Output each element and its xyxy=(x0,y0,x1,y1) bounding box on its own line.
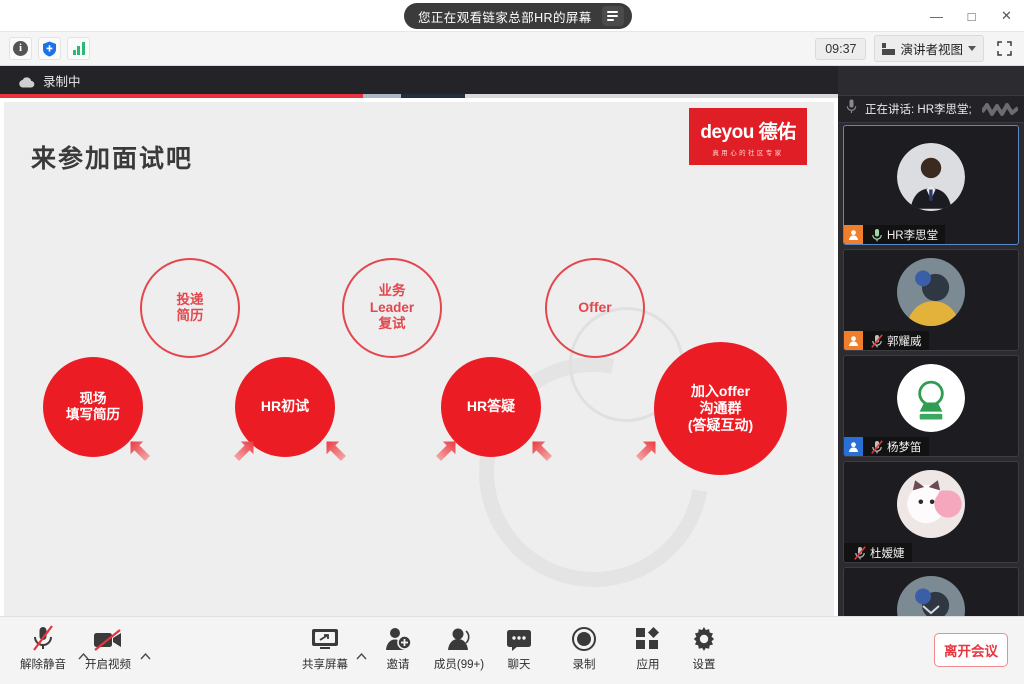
flow-node-label: 加入offer沟通群(答疑互动) xyxy=(688,383,753,434)
record-icon xyxy=(572,627,596,651)
toolbar-button-label: 聊天 xyxy=(508,656,531,672)
flow-node: 业务Leader复试 xyxy=(342,258,442,358)
toolbar-button-label: 设置 xyxy=(693,656,716,672)
gear-icon xyxy=(692,627,716,651)
participant-tile[interactable]: HR李思堂 xyxy=(843,125,1019,245)
maximize-button[interactable]: □ xyxy=(954,0,989,32)
participant-name: 杨梦笛 xyxy=(887,439,922,455)
participant-nametag: 郭耀威 xyxy=(844,331,929,350)
screen-share-notice-label: 您正在观看链家总部HR的屏幕 xyxy=(418,7,592,26)
flow-node-label: HR初试 xyxy=(261,398,309,415)
view-mode-selector[interactable]: 演讲者视图 xyxy=(874,35,984,62)
meeting-window: 您正在观看链家总部HR的屏幕 — □ ✕ i 09:37 演讲者视图 xyxy=(0,0,1024,684)
signal-bars-icon[interactable] xyxy=(67,37,90,60)
shield-icon[interactable] xyxy=(38,37,61,60)
toolbar-button-unmute[interactable]: 解除静音 xyxy=(8,627,78,672)
toolbar-button-chat[interactable]: 聊天 xyxy=(484,627,554,672)
active-speaker-banner: 正在讲话: HR李思堂; xyxy=(838,95,1024,123)
camera-off-icon xyxy=(93,627,123,651)
slide-title: 来参加面试吧 xyxy=(31,139,193,175)
close-button[interactable]: ✕ xyxy=(989,0,1024,32)
toolbar-button-invite[interactable]: 邀请 xyxy=(363,627,433,672)
recording-strip: 录制中 xyxy=(0,66,838,94)
window-controls: — □ ✕ xyxy=(919,0,1024,32)
deyou-logo: deyou 德佑 真用心的社区专家 xyxy=(689,108,807,165)
meeting-toolbar: 解除静音开启视频共享屏幕邀请成员(99+)聊天录制应用设置 离开会议 xyxy=(0,616,1024,684)
microphone-muted-icon xyxy=(31,627,55,651)
toolbar-button-record[interactable]: 录制 xyxy=(549,627,619,672)
participants-icon xyxy=(446,627,472,651)
participant-nametag: HR李思堂 xyxy=(844,225,945,244)
participant-tile[interactable] xyxy=(843,567,1019,616)
apps-grid-icon xyxy=(636,627,660,651)
toolbar-button-label: 共享屏幕 xyxy=(302,656,348,672)
invite-user-icon xyxy=(385,627,411,651)
host-badge-icon xyxy=(844,331,863,350)
flow-node-label: 业务Leader复试 xyxy=(370,283,414,332)
toolbar-button-label: 开启视频 xyxy=(85,656,131,672)
recording-label: 录制中 xyxy=(43,71,81,90)
secondary-toolbar: i 09:37 演讲者视图 xyxy=(0,32,1024,66)
participant-nametag: 杨梦笛 xyxy=(844,437,929,456)
participant-tile[interactable]: 杨梦笛 xyxy=(843,355,1019,457)
participants-sidebar: 正在讲话: HR李思堂; HR李思堂郭耀威杨梦笛杜嫒婕 xyxy=(838,66,1024,616)
toolbar-button-label: 邀请 xyxy=(387,656,410,672)
flow-node: 投递简历 xyxy=(140,258,240,358)
view-mode-label: 演讲者视图 xyxy=(900,39,963,58)
participant-tile[interactable]: 郭耀威 xyxy=(843,249,1019,351)
participant-name: HR李思堂 xyxy=(887,227,938,243)
microphone-muted-icon xyxy=(871,334,883,348)
participant-tile[interactable]: 杜嫒婕 xyxy=(843,461,1019,563)
shared-screen-stage: 来参加面试吧 deyou 德佑 真用心的社区专家 现场填写简历投递简历HR初试业… xyxy=(0,98,838,616)
flow-node-label: 投递简历 xyxy=(177,292,204,325)
person-photo-avatar xyxy=(897,258,965,326)
layout-icon xyxy=(882,43,895,55)
flow-node-label: HR答疑 xyxy=(467,398,515,415)
host-badge-icon xyxy=(844,225,863,244)
toolbar-button-settings[interactable]: 设置 xyxy=(669,627,739,672)
participant-nametag: 杜嫒婕 xyxy=(844,543,912,562)
active-speaker-label: 正在讲话: HR李思堂; xyxy=(865,101,972,117)
participant-name: 杜嫒婕 xyxy=(870,545,905,561)
toolbar-button-video[interactable]: 开启视频 xyxy=(73,627,143,672)
hamburger-icon[interactable] xyxy=(602,6,624,26)
minimize-button[interactable]: — xyxy=(919,0,954,32)
logo-avatar xyxy=(897,364,965,432)
microphone-muted-icon xyxy=(854,546,866,560)
toolbar-left-icons: i xyxy=(9,37,90,60)
flow-node-label: 现场填写简历 xyxy=(66,391,120,424)
toolbar-button-share[interactable]: 共享屏幕 xyxy=(290,627,360,672)
leave-meeting-button[interactable]: 离开会议 xyxy=(934,633,1008,667)
chevron-down-icon[interactable] xyxy=(922,602,940,616)
cat-photo-avatar xyxy=(897,470,965,538)
logo-main-text: deyou 德佑 xyxy=(700,117,795,144)
cloud-icon xyxy=(18,75,35,85)
microphone-icon xyxy=(871,228,883,242)
fullscreen-icon[interactable] xyxy=(992,38,1016,60)
flow-node: Offer xyxy=(545,258,645,358)
presentation-slide: 来参加面试吧 deyou 德佑 真用心的社区专家 现场填写简历投递简历HR初试业… xyxy=(4,102,834,616)
share-screen-icon xyxy=(311,627,339,651)
info-icon[interactable]: i xyxy=(9,37,32,60)
chevron-down-icon xyxy=(968,46,976,51)
host-badge-icon xyxy=(844,437,863,456)
person-suit-avatar xyxy=(897,143,965,211)
microphone-muted-icon xyxy=(871,440,883,454)
chevron-up-icon[interactable] xyxy=(140,647,151,658)
flow-node-label: Offer xyxy=(578,299,611,316)
toolbar-button-label: 解除静音 xyxy=(20,656,66,672)
waveform-icon xyxy=(982,102,1018,116)
microphone-icon xyxy=(846,99,857,119)
flow-node: 加入offer沟通群(答疑互动) xyxy=(654,342,787,475)
screen-share-notice[interactable]: 您正在观看链家总部HR的屏幕 xyxy=(404,3,632,29)
toolbar-button-label: 成员(99+) xyxy=(434,656,484,672)
toolbar-button-label: 录制 xyxy=(573,656,596,672)
meeting-clock: 09:37 xyxy=(815,38,866,60)
toolbar-right-group: 09:37 演讲者视图 xyxy=(815,35,1016,62)
participant-name: 郭耀威 xyxy=(887,333,922,349)
logo-sub-text: 真用心的社区专家 xyxy=(712,147,783,157)
title-bar: 您正在观看链家总部HR的屏幕 — □ ✕ xyxy=(0,0,1024,32)
chat-bubble-icon xyxy=(506,627,532,651)
toolbar-button-label: 应用 xyxy=(637,656,660,672)
